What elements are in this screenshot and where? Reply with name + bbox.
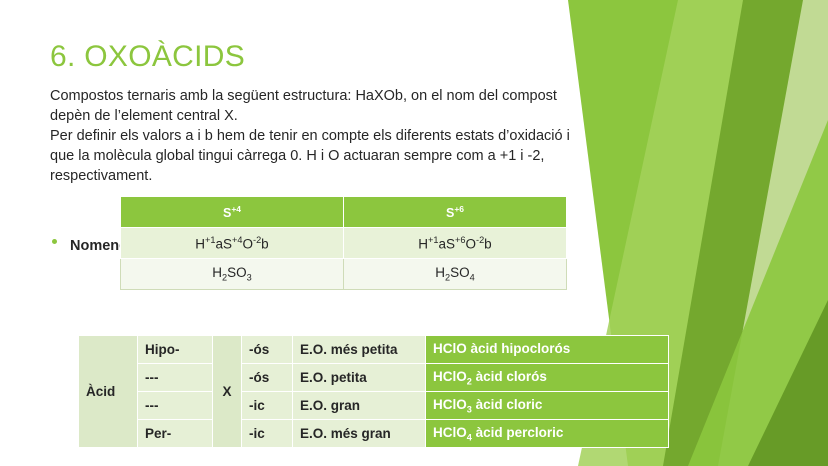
bullet-dot [52, 239, 57, 244]
cell-prefix-2: --- [138, 364, 213, 392]
cell-acid-label: Àcid [79, 336, 138, 448]
cell-eo-2: E.O. petita [293, 364, 426, 392]
cell-example-1: HClO àcid hipoclorós [426, 336, 669, 364]
col-header-s4: S+4 [121, 197, 344, 228]
cell-eo-4: E.O. més gran [293, 420, 426, 448]
col-header-s6: S+6 [344, 197, 567, 228]
intro-line-2: depèn de l’element central X. [50, 106, 630, 126]
formula-general-s6: H+1aS+6O-2b [344, 228, 567, 259]
formula-h2so4: H2SO4 [344, 259, 567, 290]
intro-line-1: Compostos ternaris amb la següent estruc… [50, 86, 630, 106]
table-row: H2SO3 H2SO4 [121, 259, 567, 290]
cell-suffix-4: -ic [242, 420, 293, 448]
cell-prefix-1: Hipo- [138, 336, 213, 364]
intro-line-4: que la molècula global tingui càrrega 0.… [50, 146, 630, 166]
cell-x-label: X [213, 336, 242, 448]
cell-suffix-1: -ós [242, 336, 293, 364]
slide: 6. OXOÀCIDS Compostos ternaris amb la se… [0, 0, 828, 466]
cell-suffix-2: -ós [242, 364, 293, 392]
page-title: 6. OXOÀCIDS [50, 40, 245, 74]
intro-paragraph: Compostos ternaris amb la següent estruc… [50, 86, 630, 186]
cell-example-2: HClO2 àcid clorós [426, 364, 669, 392]
cell-example-4: HClO4 àcid percloric [426, 420, 669, 448]
formula-general-s4: H+1aS+4O-2b [121, 228, 344, 259]
table-row-header: S+4 S+6 [121, 197, 567, 228]
cell-eo-1: E.O. més petita [293, 336, 426, 364]
table-row: --- -ós E.O. petita HClO2 àcid clorós [79, 364, 669, 392]
intro-line-5: respectivament. [50, 166, 630, 186]
nomenclature-table: Àcid Hipo- X -ós E.O. més petita HClO àc… [78, 335, 669, 448]
bullet-bold: Nomen [70, 238, 119, 254]
cell-suffix-3: -ic [242, 392, 293, 420]
formula-h2so3: H2SO3 [121, 259, 344, 290]
intro-line-3: Per definir els valors a i b hem de teni… [50, 126, 630, 146]
table-row: H+1aS+4O-2b H+1aS+6O-2b [121, 228, 567, 259]
oxidation-state-table: S+4 S+6 H+1aS+4O-2b H+1aS+6O-2b H2SO3 H2… [120, 196, 567, 290]
table-row: Àcid Hipo- X -ós E.O. més petita HClO àc… [79, 336, 669, 364]
cell-prefix-4: Per- [138, 420, 213, 448]
cell-example-3: HClO3 àcid cloric [426, 392, 669, 420]
cell-eo-3: E.O. gran [293, 392, 426, 420]
table-row: Per- -ic E.O. més gran HClO4 àcid perclo… [79, 420, 669, 448]
cell-prefix-3: --- [138, 392, 213, 420]
table-row: --- -ic E.O. gran HClO3 àcid cloric [79, 392, 669, 420]
